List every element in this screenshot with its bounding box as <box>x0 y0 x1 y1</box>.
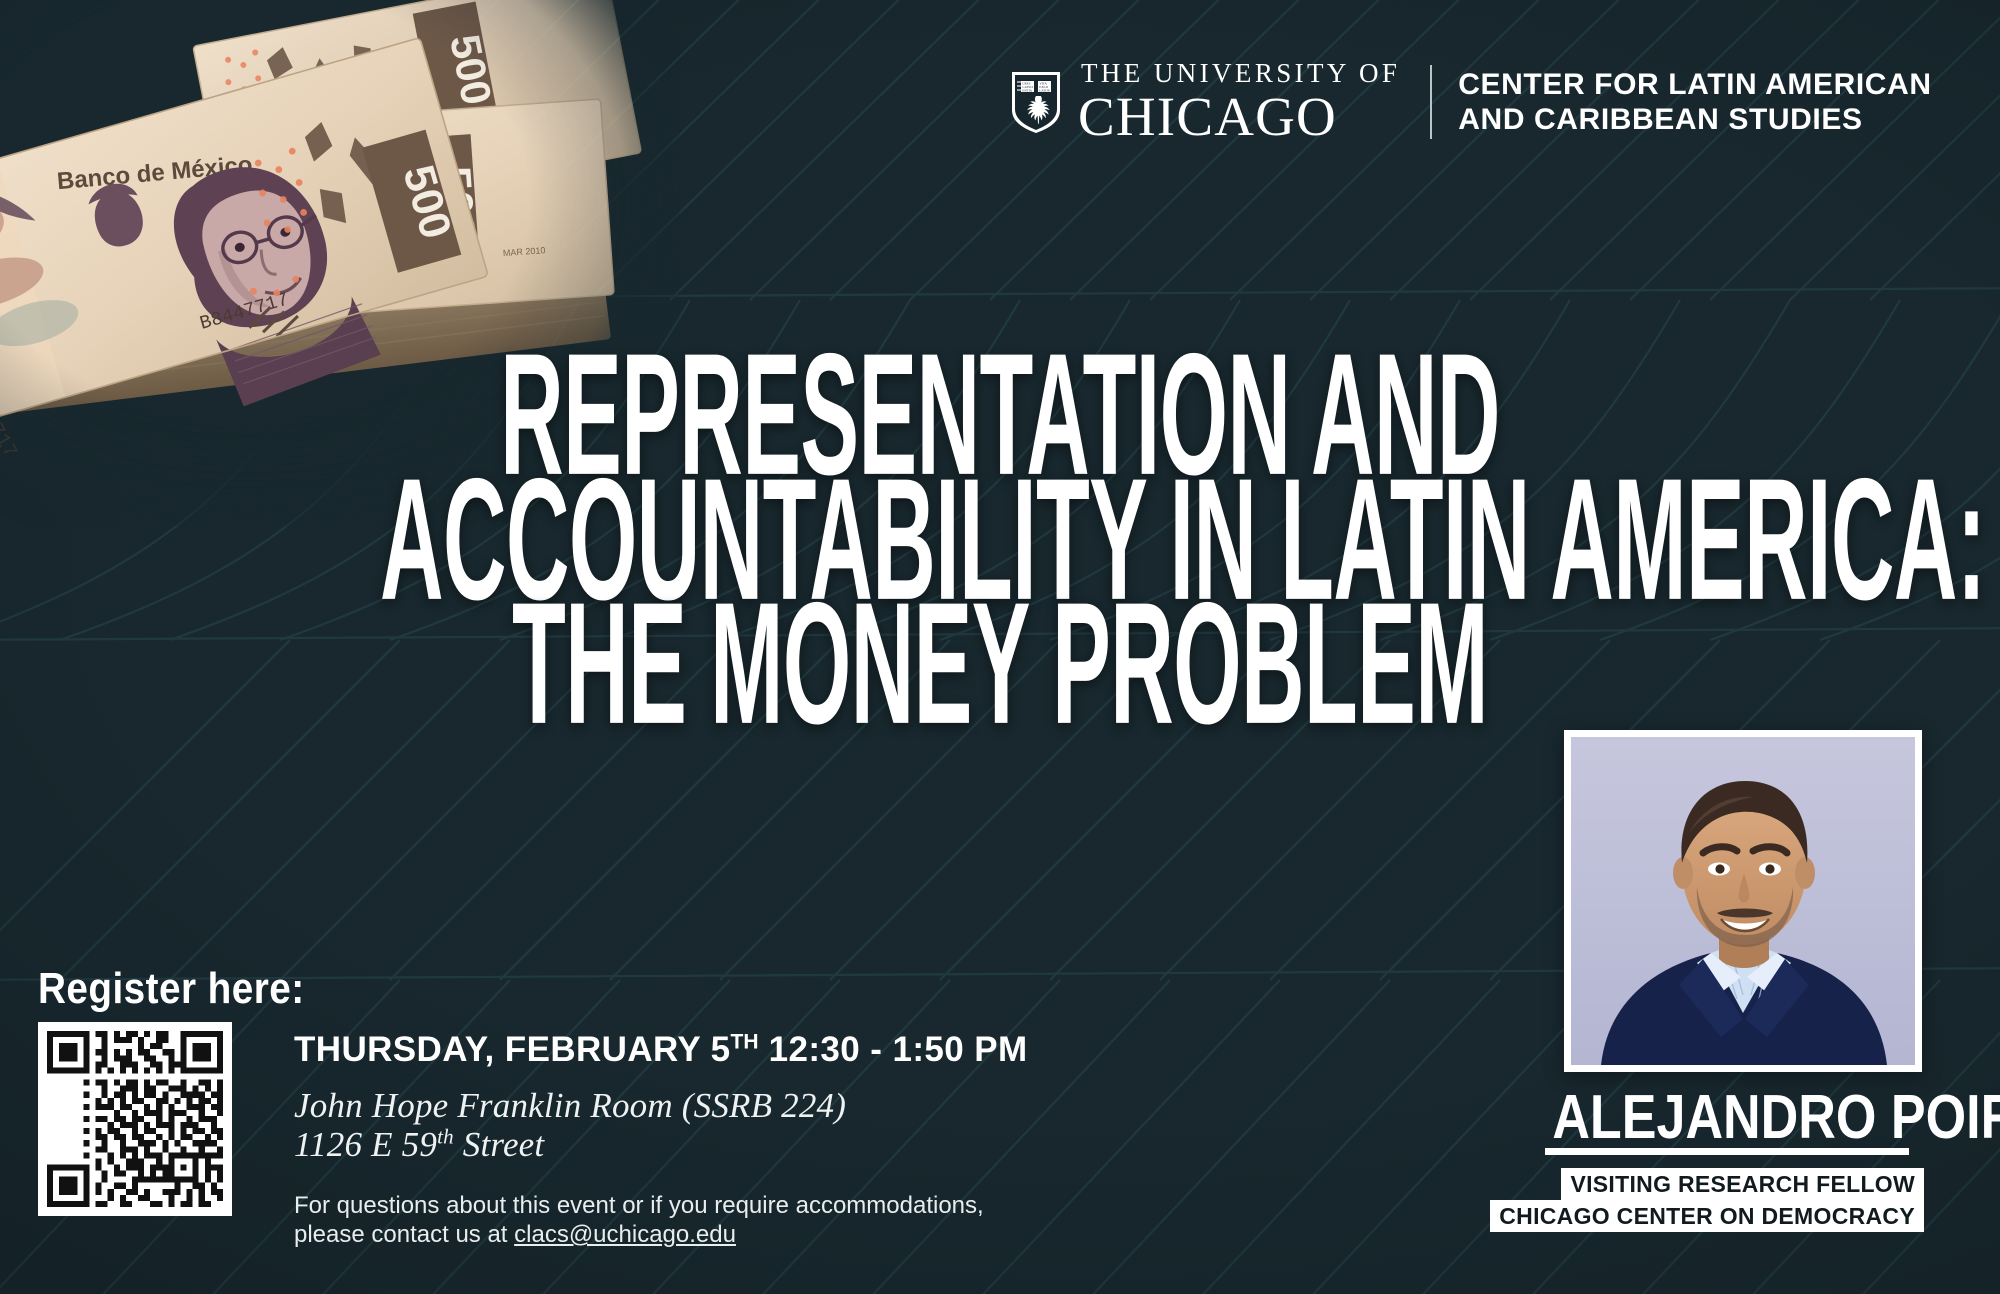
register-here-label: Register here: <box>38 964 305 1014</box>
qr-code-registration[interactable] <box>38 1022 232 1216</box>
credential-line-2: CHICAGO CENTER ON DEMOCRACY <box>1490 1200 1924 1232</box>
date-ordinal: TH <box>731 1030 759 1053</box>
svg-text:ENTIA: ENTIA <box>1022 88 1032 92</box>
event-datetime: THURSDAY, FEBRUARY 5TH 12:30 - 1:50 PM <box>294 1030 1074 1070</box>
event-title: REPRESENTATION AND ACCOUNTABILITY IN LAT… <box>0 336 2000 716</box>
address-ordinal: th <box>437 1125 454 1149</box>
speaker-name: ALEJANDRO POIRÉ <box>1552 1082 1891 1153</box>
speaker-name-underline <box>1545 1148 1909 1155</box>
event-poster: 500 500 <box>0 0 2000 1294</box>
contact-prefix: please contact us at <box>294 1221 514 1248</box>
event-address: 1126 E 59th Street <box>294 1125 1074 1164</box>
event-details: THURSDAY, FEBRUARY 5TH 12:30 - 1:50 PM J… <box>294 1030 1074 1250</box>
address-prefix: 1126 E 59 <box>294 1125 437 1164</box>
uchicago-shield-phoenix-icon: CRES CATSCI ENTIA VITA EXCO LATUR <box>1010 70 1062 134</box>
contact-note: For questions about this event or if you… <box>294 1192 1074 1250</box>
center-name: CENTER FOR LATIN AMERICAN AND CARIBBEAN … <box>1458 67 1931 138</box>
contact-line-1: For questions about this event or if you… <box>294 1192 1074 1221</box>
center-line-1: CENTER FOR LATIN AMERICAN <box>1458 67 1931 102</box>
university-line-1: THE UNIVERSITY OF <box>1078 60 1400 87</box>
university-wordmark: THE UNIVERSITY OF CHICAGO <box>1078 60 1400 144</box>
contact-email-link[interactable]: clacs@uchicago.edu <box>514 1221 736 1248</box>
contact-line-2: please contact us at clacs@uchicago.edu <box>294 1221 1074 1250</box>
event-venue: John Hope Franklin Room (SSRB 224) <box>294 1086 1074 1125</box>
title-line-3: THE MONEY PROBLEM <box>380 585 1620 744</box>
uchicago-clacs-logo: CRES CATSCI ENTIA VITA EXCO LATUR <box>1010 60 1932 144</box>
logo-divider <box>1430 65 1432 139</box>
university-line-2: CHICAGO <box>1078 89 1337 144</box>
center-line-2: AND CARIBBEAN STUDIES <box>1458 102 1931 137</box>
credential-line-1: VISITING RESEARCH FELLOW <box>1561 1168 1924 1200</box>
speaker-photo <box>1564 730 1922 1072</box>
speaker-credentials: VISITING RESEARCH FELLOW CHICAGO CENTER … <box>1520 1168 1924 1232</box>
address-suffix: Street <box>463 1125 545 1164</box>
event-time: 12:30 - 1:50 PM <box>769 1030 1028 1069</box>
svg-text:LATUR: LATUR <box>1039 88 1050 92</box>
event-date: THURSDAY, FEBRUARY 5 <box>294 1030 731 1069</box>
